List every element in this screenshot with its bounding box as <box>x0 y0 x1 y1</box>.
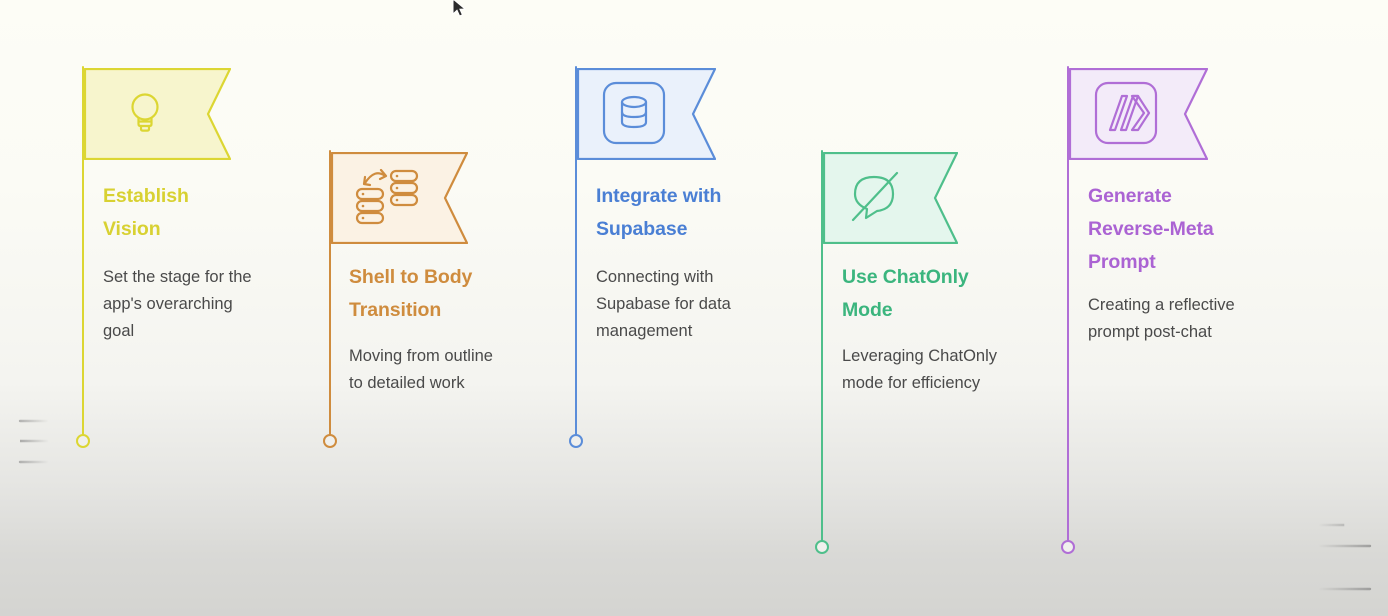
milestone-node-marker[interactable] <box>815 540 829 554</box>
milestone-integrate-with-supabase[interactable]: Integrate with SupabaseConnecting with S… <box>575 0 835 616</box>
milestone-title: Generate Reverse-Meta Prompt <box>1088 180 1288 279</box>
lightbulb-icon <box>84 68 205 158</box>
milestone-generate-reverse-meta-prompt[interactable]: Generate Reverse-Meta PromptCreating a r… <box>1067 0 1327 616</box>
milestone-description: Moving from outline to detailed work <box>349 343 564 397</box>
milestone-node-marker[interactable] <box>1061 540 1075 554</box>
database-icon <box>601 80 667 146</box>
fast-forward-icon <box>1093 80 1159 146</box>
milestone-establish-vision[interactable]: Establish VisionSet the stage for the ap… <box>82 0 342 616</box>
milestone-flag[interactable] <box>331 152 466 242</box>
chat-disabled-icon <box>823 152 932 242</box>
fast-forward-icon <box>1069 68 1182 158</box>
milestone-description: Leveraging ChatOnly mode for efficiency <box>842 343 1057 397</box>
milestone-flag[interactable] <box>84 68 229 158</box>
roadmap-diagram: Establish VisionSet the stage for the ap… <box>0 0 1388 616</box>
milestone-flag[interactable] <box>1069 68 1206 158</box>
lightbulb-icon <box>117 85 173 141</box>
milestone-flag[interactable] <box>823 152 956 242</box>
milestone-title: Shell to Body Transition <box>349 261 529 327</box>
milestone-title: Establish Vision <box>103 180 303 246</box>
server-migration-icon <box>351 167 423 227</box>
milestone-node-marker[interactable] <box>569 434 583 448</box>
database-icon <box>577 68 690 158</box>
milestone-use-chatonly-mode[interactable]: Use ChatOnly ModeLeveraging ChatOnly mod… <box>821 0 1081 616</box>
milestone-shell-to-body-transition[interactable]: Shell to Body TransitionMoving from outl… <box>329 0 589 616</box>
milestone-description: Creating a reflective prompt post-chat <box>1088 292 1303 346</box>
milestone-flag[interactable] <box>577 68 714 158</box>
milestone-description: Set the stage for the app's overarching … <box>103 264 318 345</box>
milestone-node-marker[interactable] <box>323 434 337 448</box>
milestone-title: Use ChatOnly Mode <box>842 261 1042 327</box>
chat-disabled-icon <box>847 168 909 226</box>
milestone-description: Connecting with Supabase for data manage… <box>596 264 811 345</box>
server-migration-icon <box>331 152 442 242</box>
milestone-node-marker[interactable] <box>76 434 90 448</box>
milestone-title: Integrate with Supabase <box>596 180 796 246</box>
